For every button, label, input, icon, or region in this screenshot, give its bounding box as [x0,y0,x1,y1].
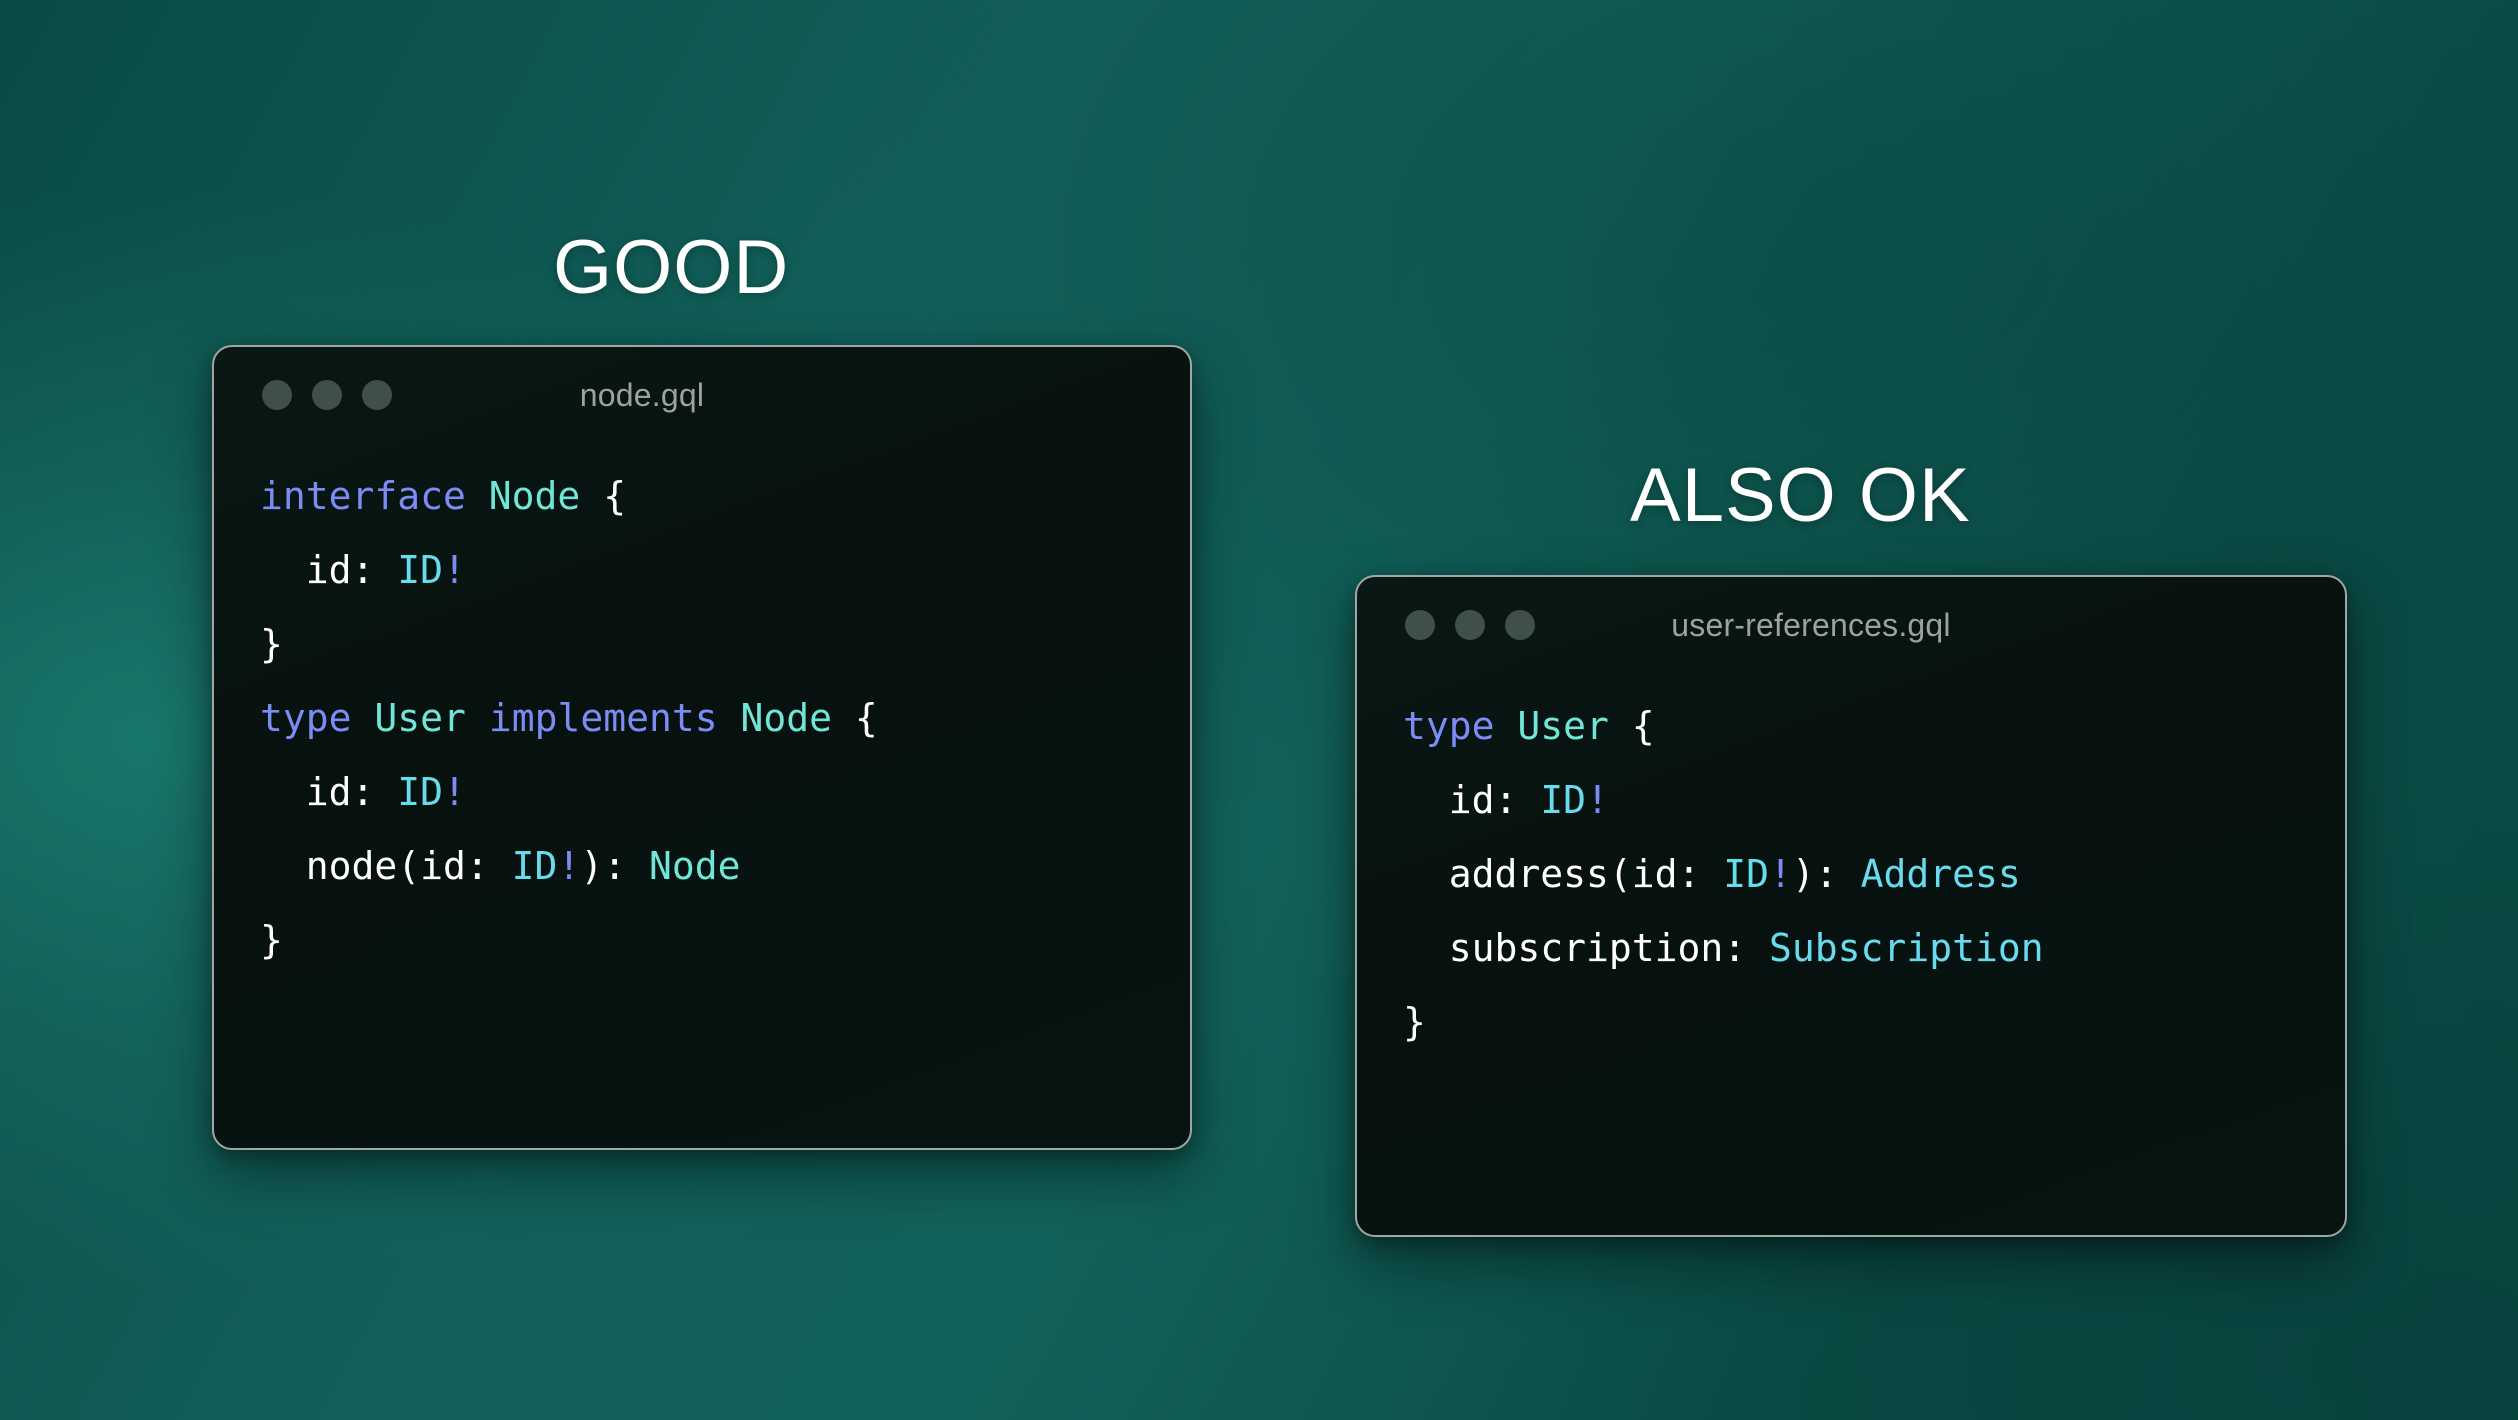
code-line: type User implements Node { [260,681,1190,755]
code-token-type: Node [740,696,832,740]
code-token-kw: type [1403,704,1495,748]
code-token-punc: { [832,696,878,740]
code-line: id: ID! [260,533,1190,607]
code-token-kw: type [260,696,352,740]
code-token-bang: ! [443,548,466,592]
code-line: interface Node { [260,459,1190,533]
poster-canvas: GOOD node.gql interface Node { id: ID!}t… [0,0,2518,1420]
code-token-scal: ID [397,548,443,592]
code-line: } [260,607,1190,681]
code-token-type: Node [649,844,741,888]
code-token-scal: Subscription [1769,926,2044,970]
code-line: } [1403,985,2345,1059]
code-line: subscription: Subscription [1403,911,2345,985]
code-token-kw: interface [260,474,466,518]
window-titlebar: node.gql [214,347,1190,443]
minimize-dot-icon[interactable] [1455,610,1485,640]
code-token-type: User [1517,704,1609,748]
code-token-plain: ): [580,844,649,888]
code-token-scal: ID [1540,778,1586,822]
code-token-scal: ID [397,770,443,814]
code-token-bang: ! [1769,852,1792,896]
code-token-plain [466,474,489,518]
minimize-dot-icon[interactable] [312,380,342,410]
code-token-plain: subscription: [1403,926,1769,970]
code-token-plain: id: [1403,778,1540,822]
code-token-punc: } [260,918,283,962]
code-line: id: ID! [260,755,1190,829]
code-window-good[interactable]: node.gql interface Node { id: ID!}type U… [212,345,1192,1150]
close-dot-icon[interactable] [262,380,292,410]
code-token-scal: ID [1723,852,1769,896]
code-line: } [260,903,1190,977]
code-line: node(id: ID!): Node [260,829,1190,903]
code-token-punc: } [1403,1000,1426,1044]
code-token-kw: implements [489,696,718,740]
code-token-plain: id: [260,770,397,814]
code-block-node-gql: interface Node { id: ID!}type User imple… [214,443,1190,977]
code-token-plain: ): [1792,852,1861,896]
window-titlebar: user-references.gql [1357,577,2345,673]
code-token-bang: ! [557,844,580,888]
code-token-type: Node [489,474,581,518]
code-token-plain [718,696,741,740]
code-token-bang: ! [1586,778,1609,822]
heading-good: GOOD [553,222,789,314]
code-token-plain [466,696,489,740]
heading-also-ok: ALSO OK [1630,450,1971,542]
code-line: id: ID! [1403,763,2345,837]
code-window-also-ok[interactable]: user-references.gql type User { id: ID! … [1355,575,2347,1237]
maximize-dot-icon[interactable] [362,380,392,410]
maximize-dot-icon[interactable] [1505,610,1535,640]
code-token-punc: } [260,622,283,666]
close-dot-icon[interactable] [1405,610,1435,640]
code-token-plain: id: [260,548,397,592]
code-token-type: User [374,696,466,740]
code-token-plain [352,696,375,740]
code-token-plain: address(id: [1403,852,1723,896]
code-token-punc: { [1609,704,1655,748]
window-controls [262,380,392,410]
code-token-bang: ! [443,770,466,814]
code-line: address(id: ID!): Address [1403,837,2345,911]
code-token-punc: { [580,474,626,518]
code-token-scal: Address [1861,852,2021,896]
code-token-plain [1495,704,1518,748]
window-controls [1405,610,1535,640]
code-token-scal: ID [512,844,558,888]
code-block-user-references-gql: type User { id: ID! address(id: ID!): Ad… [1357,673,2345,1059]
code-line: type User { [1403,689,2345,763]
code-token-plain: node(id: [260,844,512,888]
